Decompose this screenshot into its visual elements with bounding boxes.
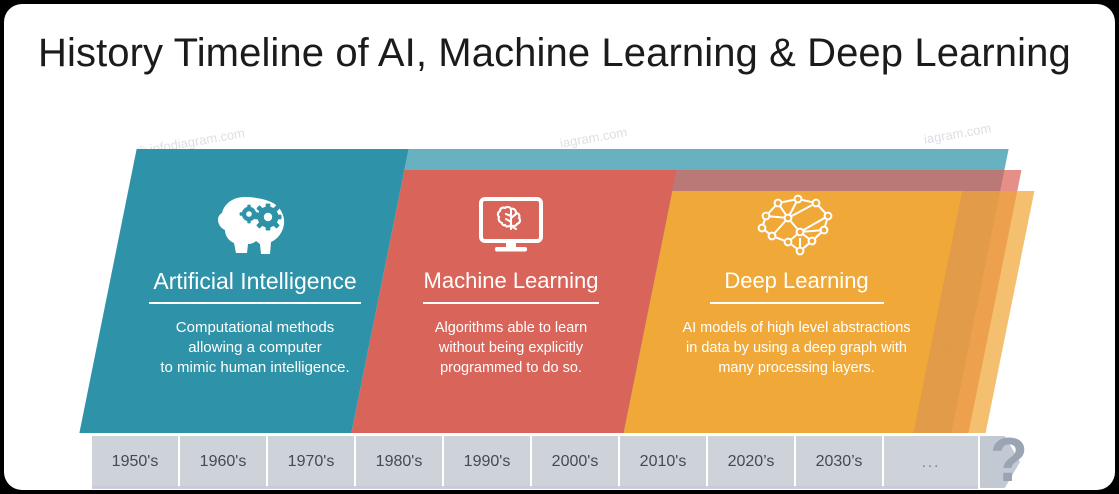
panel-description-line: Algorithms able to learn	[387, 318, 635, 338]
panel-heading: Artificial Intelligence	[124, 266, 386, 296]
heading-divider	[149, 302, 361, 304]
panel-content-deep-learning: Deep Learning AI models of high level ab…	[654, 192, 939, 378]
infographic-card: History Timeline of AI, Machine Learning…	[4, 4, 1115, 490]
panel-description-line: Computational methods	[124, 318, 386, 338]
panel-description: Algorithms able to learn without being e…	[387, 318, 635, 378]
monitor-brain-icon	[387, 194, 635, 258]
timeline-decade[interactable]: 1970's	[268, 436, 356, 488]
timeline-underline	[92, 486, 978, 489]
panel-heading: Machine Learning	[387, 266, 635, 296]
panel-description: AI models of high level abstractions in …	[654, 318, 939, 378]
panel-description-line: to mimic human intelligence.	[124, 358, 386, 378]
panel-description-line: many processing layers.	[654, 358, 939, 378]
timeline-decade[interactable]: 1960's	[180, 436, 268, 488]
panel-description-line: AI models of high level abstractions	[654, 318, 939, 338]
timeline-decade[interactable]: 1980's	[356, 436, 444, 488]
timeline-decade[interactable]: 2000's	[532, 436, 620, 488]
timeline-decade[interactable]: 2010's	[620, 436, 708, 488]
brain-gears-icon	[124, 192, 386, 258]
question-mark-icon: ?	[990, 430, 1028, 490]
panel-content-artificial-intelligence: Artificial Intelligence Computational me…	[124, 192, 386, 378]
panel-description: Computational methods allowing a compute…	[124, 318, 386, 378]
timeline-ellipsis: ...	[884, 436, 980, 488]
panel-description-line: allowing a computer	[124, 338, 386, 358]
timeline-decade[interactable]: 2020’s	[708, 436, 796, 488]
panel-content-machine-learning: Machine Learning Algorithms able to lear…	[387, 194, 635, 378]
timeline-bar: 1950's 1960's 1970's 1980's 1990's 2000'…	[92, 436, 1020, 488]
panel-description-line: programmed to do so.	[387, 358, 635, 378]
heading-divider	[423, 302, 599, 304]
panel-description-line: in data by using a deep graph with	[654, 338, 939, 358]
timeline-decade[interactable]: 2030’s	[796, 436, 884, 488]
timeline-decade[interactable]: 1950's	[92, 436, 180, 488]
panel-heading: Deep Learning	[654, 266, 939, 296]
timeline-decade[interactable]: 1990's	[444, 436, 532, 488]
screenshot-root: History Timeline of AI, Machine Learning…	[0, 0, 1119, 494]
panel-description-line: without being explicitly	[387, 338, 635, 358]
neural-network-brain-icon	[654, 192, 939, 258]
heading-divider	[710, 302, 884, 304]
